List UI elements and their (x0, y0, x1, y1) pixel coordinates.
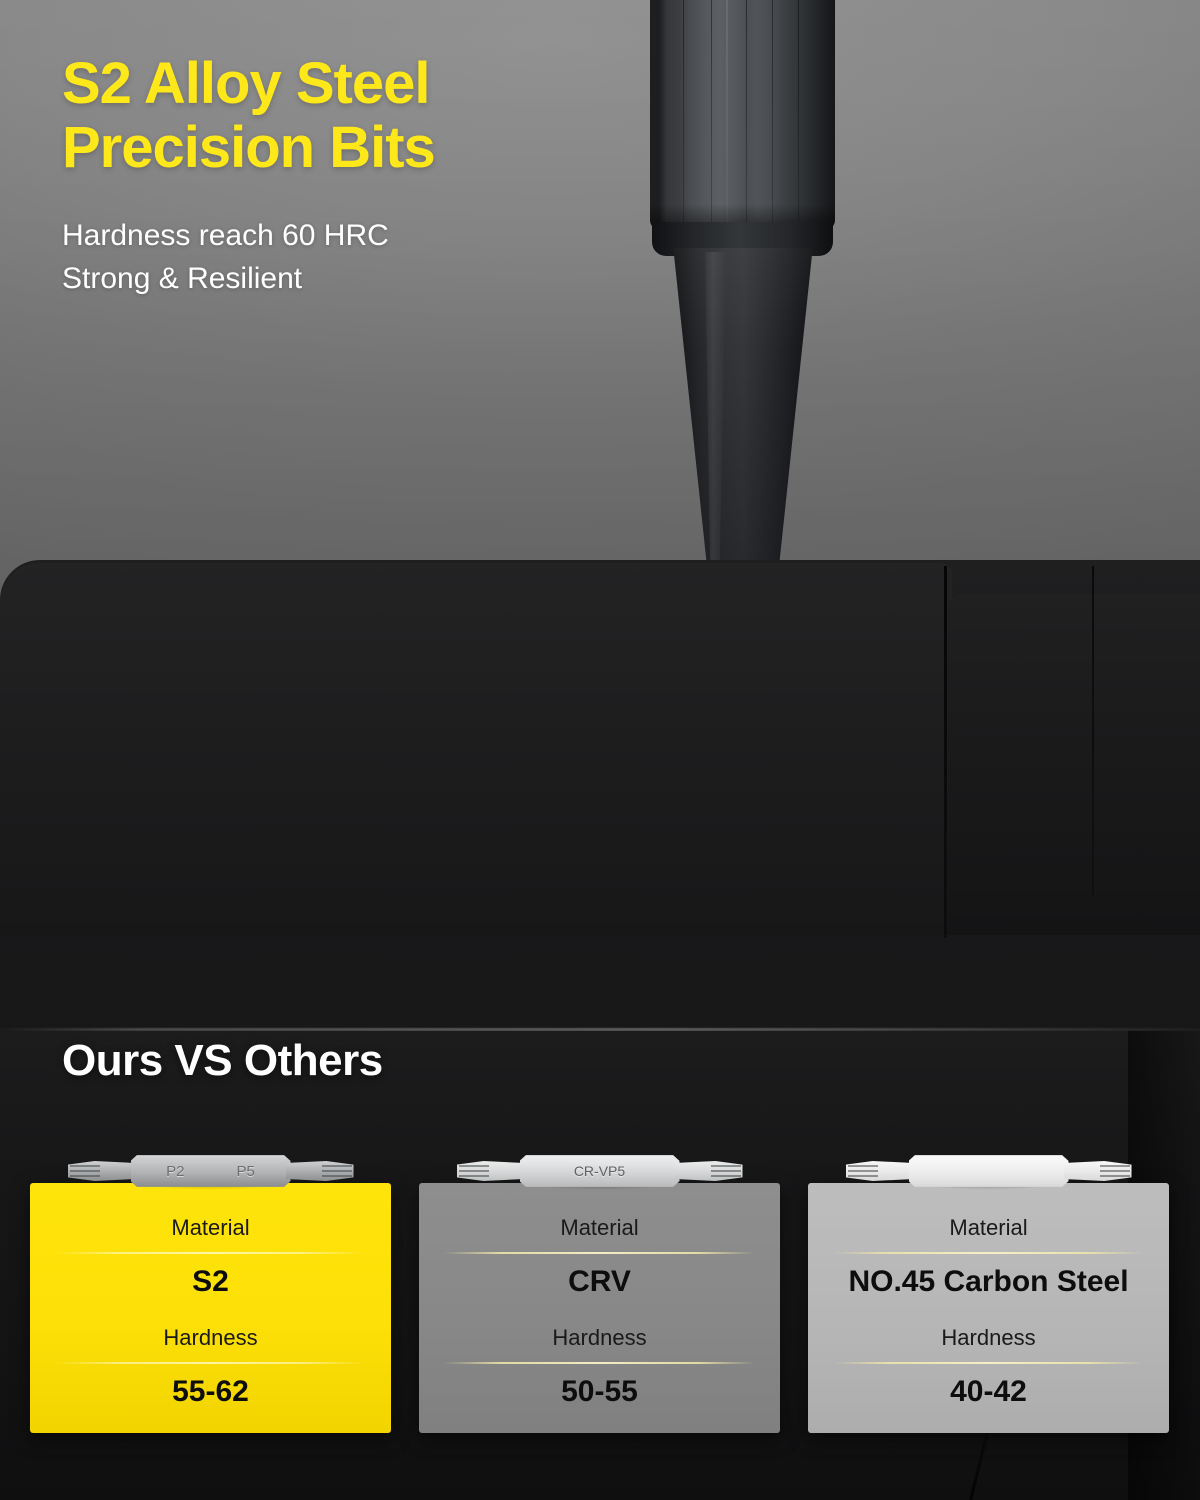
bit-marking-right: P5 (237, 1163, 255, 1180)
case-seam-vertical-1 (944, 566, 947, 938)
comparison-card-other-1[interactable]: CR-VP5 Material CRV Hardness 50-55 (419, 1183, 780, 1433)
bit-marking-left: P2 (166, 1163, 184, 1180)
divider (833, 1362, 1143, 1364)
divider (833, 1252, 1143, 1254)
case-seam-vertical-2 (1092, 566, 1094, 896)
divider (55, 1362, 365, 1364)
subheadline: Hardness reach 60 HRC Strong & Resilient (62, 214, 622, 301)
handle-barrel (650, 0, 835, 230)
product-marketing-poster: PH00 S2 Alloy Steel Precision Bits Hardn… (0, 0, 1200, 1500)
bit-star-tip-left-icon (70, 1162, 100, 1180)
handle-taper (660, 248, 826, 593)
hardness-value: 40-42 (950, 1377, 1027, 1407)
bit-icon-ours: P2 P5 (68, 1148, 354, 1194)
subheadline-line-1: Hardness reach 60 HRC (62, 219, 389, 252)
divider (55, 1252, 365, 1254)
material-label: Material (171, 1217, 249, 1239)
bit-icon-other-1: CR-VP5 (457, 1148, 743, 1194)
hardness-label: Hardness (941, 1327, 1035, 1349)
hardness-label: Hardness (552, 1327, 646, 1349)
headline-line-1: S2 Alloy Steel (62, 51, 429, 116)
case-lid-left-panel (0, 563, 952, 935)
divider (444, 1362, 754, 1364)
comparison-card-other-2[interactable]: Material NO.45 Carbon Steel Hardness 40-… (808, 1183, 1169, 1433)
comparison-cards: P2 P5 Material S2 Hardness 55-62 (30, 1183, 1170, 1433)
hero-copy: S2 Alloy Steel Precision Bits Hardness r… (62, 52, 622, 301)
bit-icon-other-2 (846, 1148, 1132, 1194)
material-label: Material (949, 1217, 1027, 1239)
hardness-value: 55-62 (172, 1377, 249, 1407)
hardness-value: 50-55 (561, 1377, 638, 1407)
material-value: S2 (192, 1267, 229, 1297)
subheadline-line-2: Strong & Resilient (62, 257, 622, 301)
headline: S2 Alloy Steel Precision Bits (62, 52, 622, 180)
material-value: NO.45 Carbon Steel (848, 1267, 1128, 1297)
case-lid-right-panel (948, 594, 1200, 935)
bit-star-tip-left-icon (848, 1162, 878, 1180)
comparison-card-ours[interactable]: P2 P5 Material S2 Hardness 55-62 (30, 1183, 391, 1433)
bit-star-tip-left-icon (459, 1162, 489, 1180)
bit-star-tip-right-icon (711, 1162, 741, 1180)
bit-star-tip-right-icon (1100, 1162, 1130, 1180)
bit-star-tip-right-icon (322, 1162, 352, 1180)
hardness-label: Hardness (163, 1327, 257, 1349)
divider (444, 1252, 754, 1254)
material-value: CRV (568, 1267, 631, 1297)
material-label: Material (560, 1217, 638, 1239)
headline-line-2: Precision Bits (62, 116, 622, 180)
bit-marking: CR-VP5 (574, 1163, 625, 1179)
comparison-title: Ours VS Others (62, 1036, 383, 1086)
